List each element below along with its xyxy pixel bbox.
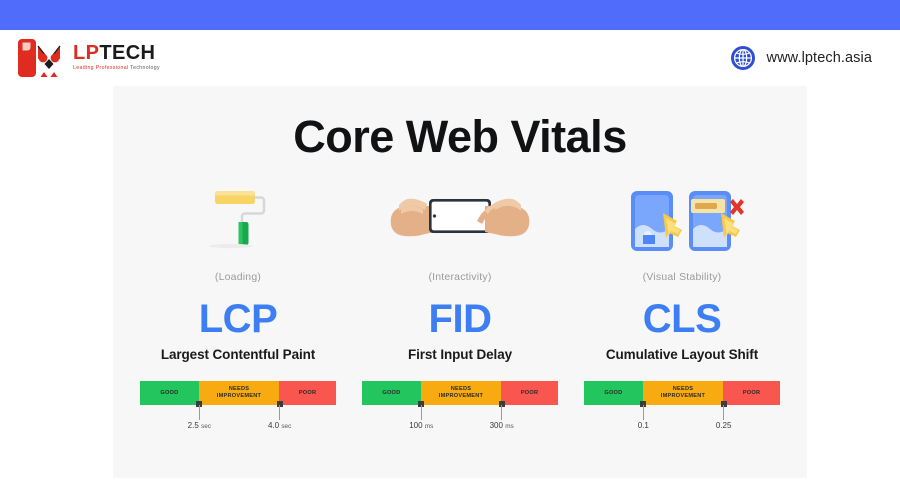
metric-acronym-cls: CLS: [643, 299, 722, 339]
core-web-vitals-card: Core Web Vitals (Loading) LCP Largest: [113, 86, 807, 478]
scale-fid: GOOD NEEDSIMPROVEMENT POOR 100 ms: [362, 381, 558, 405]
logo-tagline: Leading Professional Technology: [73, 66, 160, 71]
segment-poor-cls: POOR: [723, 381, 780, 405]
segment-needs-lcp: NEEDSIMPROVEMENT: [199, 381, 279, 405]
globe-icon: [730, 45, 756, 71]
metric-column-cls: (Visual Stability) CLS Cumulative Layout…: [571, 179, 793, 405]
segment-needs-line1-lcp: NEEDS: [229, 386, 250, 392]
logo-tagline-part1: Leading: [73, 65, 96, 71]
threshold-label-2-cls: 0.25: [716, 421, 732, 430]
segment-needs-fid: NEEDSIMPROVEMENT: [421, 381, 501, 405]
logo-word-lp: LP: [73, 42, 99, 64]
threshold-value-1-cls: 0.1: [638, 421, 649, 430]
segment-needs-label-cls: NEEDSIMPROVEMENT: [661, 386, 705, 400]
threshold-stem-1-fid: [421, 405, 422, 420]
lptech-logo[interactable]: LPTECH Leading Professional Technology: [16, 36, 160, 80]
threshold-value-2-fid: 300: [490, 421, 503, 430]
threshold-stem-1-cls: [643, 405, 644, 420]
metric-acronym-lcp: LCP: [199, 299, 278, 339]
metrics-columns: (Loading) LCP Largest Contentful Paint G…: [113, 179, 807, 405]
page-root: LPTECH Leading Professional Technology w…: [0, 0, 900, 500]
segment-needs-line1-cls: NEEDS: [673, 386, 694, 392]
segment-good-fid: GOOD: [362, 381, 421, 405]
segment-poor-label-fid: POOR: [521, 390, 538, 397]
segment-good-label-lcp: GOOD: [160, 390, 178, 397]
threshold-value-1-fid: 100: [409, 421, 422, 430]
logo-wordmark: LPTECH Leading Professional Technology: [73, 43, 160, 71]
segment-needs-line2-cls: IMPROVEMENT: [661, 393, 705, 399]
metric-sublabel-lcp: (Loading): [215, 271, 261, 283]
segment-needs-line2-fid: IMPROVEMENT: [439, 393, 483, 399]
metric-fullname-cls: Cumulative Layout Shift: [606, 347, 758, 362]
metric-sublabel-fid: (Interactivity): [428, 271, 491, 283]
shifting-layout-phones-icon: [617, 185, 747, 257]
segment-needs-line2-lcp: IMPROVEMENT: [217, 393, 261, 399]
threshold-stem-2-cls: [723, 405, 724, 420]
metric-fullname-fid: First Input Delay: [408, 347, 512, 362]
threshold-value-1-lcp: 2.5: [188, 421, 199, 430]
threshold-stem-1-lcp: [199, 405, 200, 420]
metric-column-fid: (Interactivity) FID First Input Delay GO…: [349, 179, 571, 405]
top-color-band: [0, 0, 900, 30]
threshold-label-1-lcp: 2.5 sec: [188, 421, 211, 430]
logo-mark-icon: [16, 36, 68, 80]
segment-needs-cls: NEEDSIMPROVEMENT: [643, 381, 723, 405]
segment-poor-label-cls: POOR: [743, 390, 760, 397]
segment-poor-lcp: POOR: [279, 381, 336, 405]
segment-good-lcp: GOOD: [140, 381, 199, 405]
scale-bar-fid: GOOD NEEDSIMPROVEMENT POOR: [362, 381, 558, 405]
threshold-label-1-cls: 0.1: [638, 421, 649, 430]
paint-roller-illustration: [201, 179, 275, 257]
logo-tagline-part2: Professional: [96, 65, 130, 71]
paint-roller-icon: [201, 185, 275, 257]
scale-lcp: GOOD NEEDSIMPROVEMENT POOR 2.5 sec: [140, 381, 336, 405]
metric-fullname-lcp: Largest Contentful Paint: [161, 347, 315, 362]
logo-tagline-part3: Technology: [130, 65, 160, 71]
segment-good-label-cls: GOOD: [604, 390, 622, 397]
metric-acronym-fid: FID: [429, 299, 492, 339]
hands-tapping-phone-icon: [385, 185, 535, 257]
threshold-unit-2-lcp: sec: [281, 423, 291, 430]
scale-cls: GOOD NEEDSIMPROVEMENT POOR 0.1: [584, 381, 780, 405]
threshold-stem-2-fid: [501, 405, 502, 420]
scale-bar-cls: GOOD NEEDSIMPROVEMENT POOR: [584, 381, 780, 405]
logo-word: LPTECH: [73, 43, 160, 63]
segment-good-cls: GOOD: [584, 381, 643, 405]
segment-good-label-fid: GOOD: [382, 390, 400, 397]
threshold-value-2-cls: 0.25: [716, 421, 732, 430]
threshold-unit-1-lcp: sec: [201, 423, 211, 430]
site-url-text: www.lptech.asia: [767, 50, 872, 66]
page-title: Core Web Vitals: [113, 111, 807, 163]
threshold-label-2-fid: 300 ms: [490, 421, 514, 430]
metric-sublabel-cls: (Visual Stability): [643, 271, 722, 283]
threshold-stem-2-lcp: [279, 405, 280, 420]
shifting-layout-phones-illustration: [617, 179, 747, 257]
segment-poor-label-lcp: POOR: [299, 390, 316, 397]
site-header: LPTECH Leading Professional Technology w…: [0, 30, 900, 85]
metric-column-lcp: (Loading) LCP Largest Contentful Paint G…: [127, 179, 349, 405]
segment-needs-label-lcp: NEEDSIMPROVEMENT: [217, 386, 261, 400]
threshold-unit-1-fid: ms: [425, 423, 434, 430]
site-url-block[interactable]: www.lptech.asia: [730, 45, 872, 71]
threshold-value-2-lcp: 4.0: [268, 421, 279, 430]
threshold-label-2-lcp: 4.0 sec: [268, 421, 291, 430]
logo-word-tech: TECH: [99, 42, 155, 64]
threshold-unit-2-fid: ms: [505, 423, 514, 430]
scale-bar-lcp: GOOD NEEDSIMPROVEMENT POOR: [140, 381, 336, 405]
segment-needs-label-fid: NEEDSIMPROVEMENT: [439, 386, 483, 400]
hands-tapping-phone-illustration: [385, 179, 535, 257]
segment-poor-fid: POOR: [501, 381, 558, 405]
segment-needs-line1-fid: NEEDS: [451, 386, 472, 392]
threshold-label-1-fid: 100 ms: [409, 421, 433, 430]
